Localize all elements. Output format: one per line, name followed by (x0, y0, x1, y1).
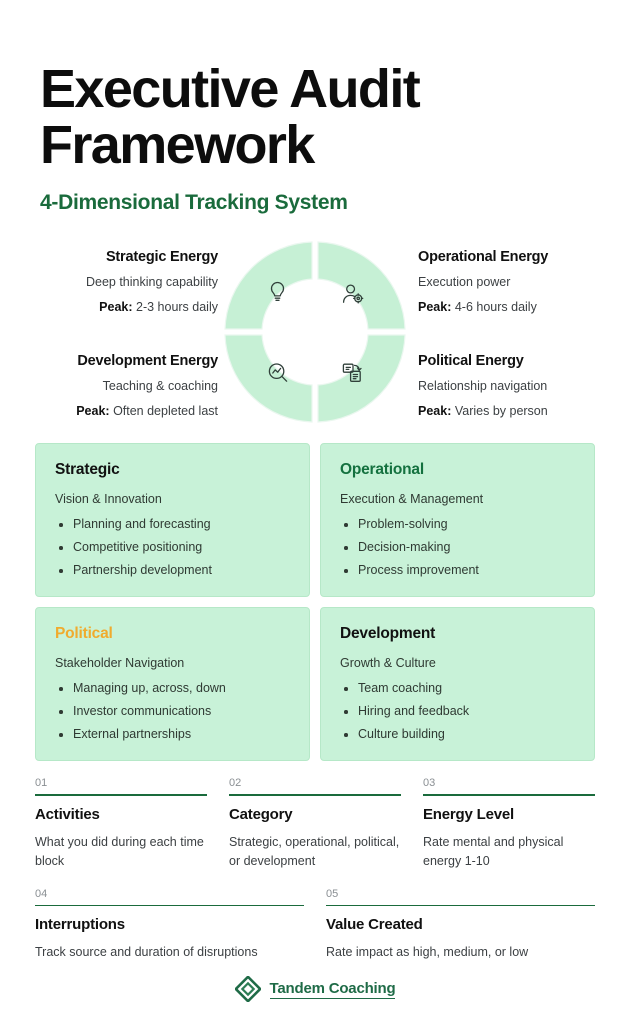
wheel-label-desc: Relationship navigation (418, 379, 608, 393)
list-item: Investor communications (55, 704, 290, 718)
step-item-03: 03 Energy Level Rate mental and physical… (423, 777, 595, 871)
step-title: Energy Level (423, 806, 595, 823)
card-item-list: Planning and forecasting Competitive pos… (55, 517, 290, 577)
steps-row-1: 01 Activities What you did during each t… (35, 777, 595, 871)
wheel-label-desc: Teaching & coaching (28, 379, 218, 393)
list-item: Process improvement (340, 563, 575, 577)
page-title: Executive Audit Framework (40, 62, 590, 173)
card-subtitle: Vision & Innovation (55, 492, 290, 506)
step-description: What you did during each time block (35, 833, 207, 872)
wheel-label-desc: Execution power (418, 275, 608, 289)
step-description: Rate impact as high, medium, or low (326, 943, 595, 962)
list-item: External partnerships (55, 727, 290, 741)
step-item-02: 02 Category Strategic, operational, poli… (229, 777, 401, 871)
wheel-label-development: Development Energy Teaching & coaching P… (28, 353, 218, 418)
wheel-label-operational: Operational Energy Execution power Peak:… (418, 249, 608, 314)
step-item-05: 05 Value Created Rate impact as high, me… (326, 888, 595, 963)
list-item: Decision-making (340, 540, 575, 554)
list-item: Managing up, across, down (55, 681, 290, 695)
list-item: Competitive positioning (55, 540, 290, 554)
card-title: Strategic (55, 461, 290, 479)
card-title: Operational (340, 461, 575, 479)
step-title: Category (229, 806, 401, 823)
donut-segment-strategic (225, 242, 312, 329)
wheel-label-title: Political Energy (418, 353, 608, 369)
card-item-list: Managing up, across, down Investor commu… (55, 681, 290, 741)
card-title: Political (55, 625, 290, 643)
list-item: Planning and forecasting (55, 517, 290, 531)
footer-branding: Tandem Coaching (0, 976, 630, 1002)
list-item: Problem-solving (340, 517, 575, 531)
page-subtitle: 4-Dimensional Tracking System (40, 191, 590, 215)
step-description: Track source and duration of disruptions (35, 943, 304, 962)
step-divider (229, 794, 401, 796)
step-description: Strategic, operational, political, or de… (229, 833, 401, 872)
energy-wheel-cluster: Strategic Energy Deep thinking capabilit… (0, 237, 630, 427)
donut-segment-operational (318, 242, 405, 329)
category-cards-grid: Strategic Vision & Innovation Planning a… (0, 443, 630, 761)
infographic-page: Executive Audit Framework 4-Dimensional … (0, 0, 630, 1024)
step-number: 03 (423, 777, 595, 794)
step-title: Interruptions (35, 916, 304, 933)
step-divider (326, 905, 595, 907)
step-number: 02 (229, 777, 401, 794)
peak-value: 4-6 hours daily (455, 300, 537, 314)
peak-value: 2-3 hours daily (136, 300, 218, 314)
step-divider (423, 794, 595, 796)
step-title: Value Created (326, 916, 595, 933)
card-subtitle: Stakeholder Navigation (55, 656, 290, 670)
list-item: Culture building (340, 727, 575, 741)
wheel-label-political: Political Energy Relationship navigation… (418, 353, 608, 418)
card-item-list: Team coaching Hiring and feedback Cultur… (340, 681, 575, 741)
header: Executive Audit Framework 4-Dimensional … (0, 0, 630, 215)
list-item: Team coaching (340, 681, 575, 695)
step-divider (35, 794, 207, 796)
card-subtitle: Growth & Culture (340, 656, 575, 670)
peak-value: Varies by person (455, 404, 548, 418)
step-description: Rate mental and physical energy 1-10 (423, 833, 595, 872)
wheel-label-peak: Peak: 2-3 hours daily (28, 300, 218, 314)
step-number: 04 (35, 888, 304, 905)
peak-label: Peak: (418, 404, 451, 418)
wheel-label-title: Strategic Energy (28, 249, 218, 265)
step-title: Activities (35, 806, 207, 823)
card-title: Development (340, 625, 575, 643)
brand-name: Tandem Coaching (270, 980, 396, 999)
step-item-01: 01 Activities What you did during each t… (35, 777, 207, 871)
tandem-diamond-logo (235, 976, 261, 1002)
peak-label: Peak: (418, 300, 451, 314)
step-item-04: 04 Interruptions Track source and durati… (35, 888, 304, 963)
category-card-strategic[interactable]: Strategic Vision & Innovation Planning a… (35, 443, 310, 597)
page-title-line-2: Framework (40, 115, 314, 175)
card-subtitle: Execution & Management (340, 492, 575, 506)
steps-row-2: 04 Interruptions Track source and durati… (35, 888, 595, 963)
wheel-label-desc: Deep thinking capability (28, 275, 218, 289)
card-item-list: Problem-solving Decision-making Process … (340, 517, 575, 577)
peak-label: Peak: (76, 404, 109, 418)
category-card-operational[interactable]: Operational Execution & Management Probl… (320, 443, 595, 597)
category-card-political[interactable]: Political Stakeholder Navigation Managin… (35, 607, 310, 761)
wheel-label-peak: Peak: Varies by person (418, 404, 608, 418)
step-number: 05 (326, 888, 595, 905)
peak-label: Peak: (99, 300, 132, 314)
tracking-steps: 01 Activities What you did during each t… (0, 777, 630, 962)
category-card-development[interactable]: Development Growth & Culture Team coachi… (320, 607, 595, 761)
wheel-label-peak: Peak: 4-6 hours daily (418, 300, 608, 314)
wheel-label-strategic: Strategic Energy Deep thinking capabilit… (28, 249, 218, 314)
step-divider (35, 905, 304, 907)
peak-value: Often depleted last (113, 404, 218, 418)
wheel-label-title: Operational Energy (418, 249, 608, 265)
page-title-line-1: Executive Audit (40, 59, 419, 119)
list-item: Partnership development (55, 563, 290, 577)
wheel-label-peak: Peak: Often depleted last (28, 404, 218, 418)
wheel-label-title: Development Energy (28, 353, 218, 369)
energy-donut-chart (220, 237, 410, 427)
donut-segment-development (225, 335, 312, 422)
step-number: 01 (35, 777, 207, 794)
donut-segment-political (318, 335, 405, 422)
list-item: Hiring and feedback (340, 704, 575, 718)
